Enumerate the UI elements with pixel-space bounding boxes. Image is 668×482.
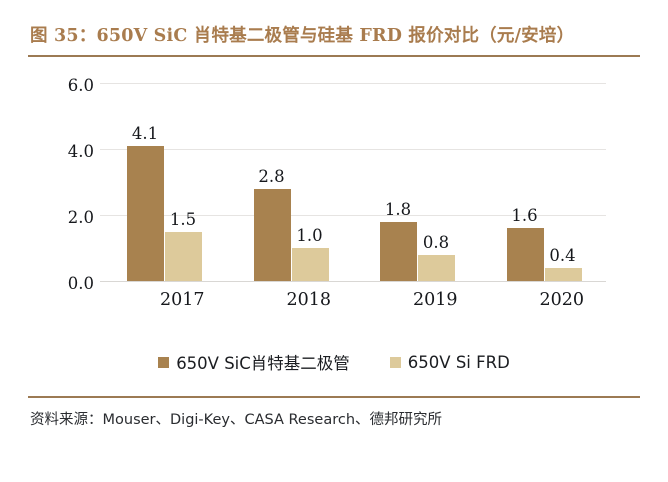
title-divider (28, 55, 640, 57)
legend-item-sic[interactable]: 650V SiC肖特基二极管 (158, 350, 350, 374)
x-tick-label-2019: 2019 (390, 290, 480, 310)
data-label-2020-sic: 1.6 (505, 206, 545, 225)
figure-container: 图 35：650V SiC 肖特基二极管与硅基 FRD 报价对比（元/安培） 0… (0, 0, 668, 482)
bar-2018-sic[interactable] (254, 189, 291, 281)
plot-area: 4.11.52.81.01.80.81.60.4 (100, 84, 606, 282)
y-axis: 0.02.04.06.0 (20, 84, 94, 282)
bar-2017-si-frd[interactable] (165, 232, 202, 282)
bar-2019-si-frd[interactable] (418, 255, 455, 281)
bar-group-2020: 1.60.4 (507, 84, 582, 282)
data-label-2018-si-frd: 1.0 (290, 226, 330, 245)
y-tick-label: 2.0 (30, 208, 94, 227)
data-label-2018-sic: 2.8 (252, 167, 292, 186)
x-axis: 2017201820192020 (100, 290, 606, 316)
legend-swatch-icon (158, 357, 169, 368)
legend-label: 650V Si FRD (408, 353, 510, 372)
bar-2020-sic[interactable] (507, 228, 544, 281)
bar-group-2017: 4.11.5 (127, 84, 202, 282)
y-tick-label: 6.0 (30, 76, 94, 95)
page-title: 图 35：650V SiC 肖特基二极管与硅基 FRD 报价对比（元/安培） (30, 22, 646, 47)
y-tick-label: 0.0 (30, 274, 94, 293)
data-label-2019-si-frd: 0.8 (416, 233, 456, 252)
bar-2017-sic[interactable] (127, 146, 164, 281)
data-label-2020-si-frd: 0.4 (543, 246, 583, 265)
chart-legend: 650V SiC肖特基二极管650V Si FRD (0, 350, 668, 374)
data-label-2017-si-frd: 1.5 (163, 210, 203, 229)
bar-2018-si-frd[interactable] (292, 248, 329, 281)
x-tick-label-2018: 2018 (264, 290, 354, 310)
data-label-2019-sic: 1.8 (378, 200, 418, 219)
bar-group-2018: 2.81.0 (254, 84, 329, 282)
footer-divider (28, 396, 640, 398)
data-label-2017-sic: 4.1 (125, 124, 165, 143)
legend-item-si-frd[interactable]: 650V Si FRD (390, 353, 510, 372)
bar-2019-sic[interactable] (380, 222, 417, 281)
x-tick-label-2020: 2020 (517, 290, 607, 310)
legend-swatch-icon (390, 357, 401, 368)
source-note: 资料来源：Mouser、Digi-Key、CASA Research、德邦研究所 (30, 408, 442, 429)
x-tick-label-2017: 2017 (137, 290, 227, 310)
y-tick-label: 4.0 (30, 142, 94, 161)
legend-label: 650V SiC肖特基二极管 (176, 350, 350, 374)
bar-group-2019: 1.80.8 (380, 84, 455, 282)
bar-2020-si-frd[interactable] (545, 268, 582, 281)
